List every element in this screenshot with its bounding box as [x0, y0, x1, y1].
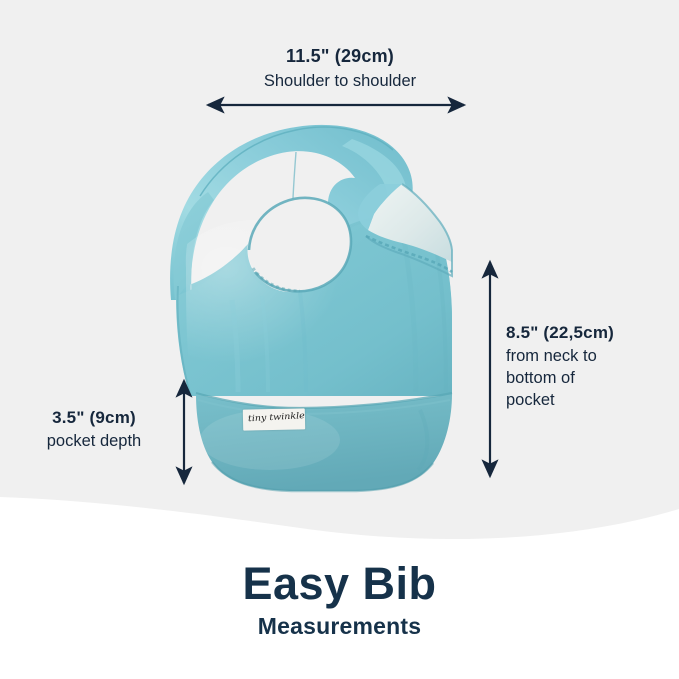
shoulder-width-description: Shoulder to shoulder: [180, 71, 500, 91]
title-block: Easy Bib Measurements: [0, 560, 679, 640]
neck-to-pocket-description-line2: bottom of: [506, 368, 674, 388]
brand-tag: tiny twinkle: [243, 408, 305, 430]
brand-tag-text: tiny twinkle: [248, 411, 305, 424]
label-pocket-depth: 3.5" (9cm) pocket depth: [18, 408, 170, 451]
pocket-depth-value: 3.5" (9cm): [18, 408, 170, 429]
measurement-infographic: tiny twinkle 11.5" (29cm) Shoulder to sh…: [0, 0, 679, 679]
label-neck-to-pocket: 8.5" (22,5cm) from neck to bottom of poc…: [506, 323, 674, 410]
page-title: Easy Bib: [0, 560, 679, 607]
page-subtitle: Measurements: [0, 613, 679, 640]
bib-pocket: [196, 393, 452, 491]
neck-to-pocket-value: 8.5" (22,5cm): [506, 323, 674, 344]
shoulder-width-value: 11.5" (29cm): [180, 46, 500, 68]
pocket-depth-description: pocket depth: [18, 431, 170, 451]
neck-to-pocket-description-line3: pocket: [506, 390, 674, 410]
neck-to-pocket-description-line1: from neck to: [506, 346, 674, 366]
label-shoulder-width: 11.5" (29cm) Shoulder to shoulder: [180, 46, 500, 91]
